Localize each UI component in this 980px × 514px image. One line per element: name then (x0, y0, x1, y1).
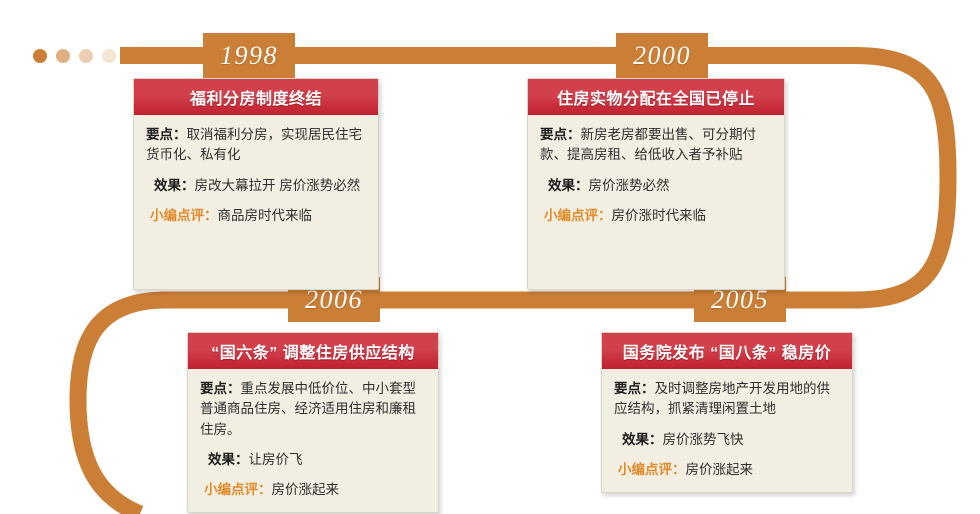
key-points-row: 要点：取消福利分房，实现居民住宅货币化、私有化 (146, 125, 366, 166)
year-tab-1998[interactable]: 1998 (203, 33, 295, 78)
comment-value: 商品房时代来临 (218, 208, 313, 223)
effect-value: 房改大幕拉开 房价涨势必然 (195, 178, 361, 193)
card-body: 要点：及时调整房地产开发用地的供应结构，抓紧清理闲置土地 效果：房价涨势飞快 小… (602, 369, 852, 492)
comment-value: 房价涨时代来临 (612, 208, 707, 223)
key-points-label: 要点： (200, 381, 241, 396)
effect-value: 让房价飞 (249, 452, 303, 467)
effect-value: 房价涨势必然 (589, 178, 670, 193)
event-card-2006[interactable]: “国六条” 调整住房供应结构 要点：重点发展中低价位、中小套型普通商品住房、经济… (187, 332, 439, 513)
key-points-label: 要点： (614, 381, 655, 396)
comment-row: 小编点评：商品房时代来临 (146, 206, 366, 226)
timeline-segment-right-curve (855, 56, 948, 301)
effect-label: 效果： (208, 452, 249, 467)
comment-label: 小编点评： (544, 208, 612, 223)
comment-row: 小编点评：房价涨起来 (200, 480, 426, 500)
effect-row: 效果：房价涨势必然 (540, 176, 772, 196)
timeline-dot-2 (56, 49, 70, 63)
effect-label: 效果： (548, 178, 589, 193)
card-title: “国六条” 调整住房供应结构 (211, 339, 414, 363)
card-title: 福利分房制度终结 (190, 85, 322, 109)
effect-row: 效果：让房价飞 (200, 450, 426, 470)
year-label: 2000 (633, 41, 691, 71)
card-body: 要点：重点发展中低价位、中小套型普通商品住房、经济适用住房和廉租住房。 效果：让… (188, 369, 438, 512)
card-body: 要点：新房老房都要出售、可分期付款、提高房租、给低收入者予补贴 效果：房价涨势必… (528, 115, 784, 289)
year-tab-2000[interactable]: 2000 (616, 33, 708, 78)
timeline-dot-4 (102, 49, 116, 63)
comment-row: 小编点评：房价涨起来 (614, 460, 840, 480)
effect-row: 效果：房价涨势飞快 (614, 430, 840, 450)
effect-label: 效果： (622, 432, 663, 447)
key-points-row: 要点：重点发展中低价位、中小套型普通商品住房、经济适用住房和廉租住房。 (200, 379, 426, 440)
key-points-row: 要点：新房老房都要出售、可分期付款、提高房租、给低收入者予补贴 (540, 125, 772, 166)
comment-row: 小编点评：房价涨时代来临 (540, 206, 772, 226)
timeline-dot-3 (79, 49, 93, 63)
event-card-2005[interactable]: 国务院发布 “国八条” 稳房价 要点：及时调整房地产开发用地的供应结构，抓紧清理… (601, 332, 853, 493)
timeline-dot-1 (33, 49, 47, 63)
card-header: 住房实物分配在全国已停止 (528, 79, 784, 115)
event-card-1998[interactable]: 福利分房制度终结 要点：取消福利分房，实现居民住宅货币化、私有化 效果：房改大幕… (133, 78, 379, 290)
key-points-label: 要点： (146, 127, 187, 142)
effect-label: 效果： (154, 178, 195, 193)
key-points-row: 要点：及时调整房地产开发用地的供应结构，抓紧清理闲置土地 (614, 379, 840, 420)
effect-row: 效果：房改大幕拉开 房价涨势必然 (146, 176, 366, 196)
timeline-segment-left-curve (78, 300, 166, 514)
card-title: 住房实物分配在全国已停止 (557, 85, 755, 109)
key-points-label: 要点： (540, 127, 581, 142)
year-label: 1998 (220, 41, 278, 71)
card-header: “国六条” 调整住房供应结构 (188, 333, 438, 369)
comment-label: 小编点评： (150, 208, 218, 223)
comment-label: 小编点评： (204, 482, 272, 497)
timeline-infographic: 1998 2000 2006 2005 福利分房制度终结 要点：取消福利分房，实… (0, 0, 980, 514)
event-card-2000[interactable]: 住房实物分配在全国已停止 要点：新房老房都要出售、可分期付款、提高房租、给低收入… (527, 78, 785, 290)
card-body: 要点：取消福利分房，实现居民住宅货币化、私有化 效果：房改大幕拉开 房价涨势必然… (134, 115, 378, 289)
comment-value: 房价涨起来 (272, 482, 340, 497)
comment-value: 房价涨起来 (686, 462, 754, 477)
comment-label: 小编点评： (618, 462, 686, 477)
effect-value: 房价涨势飞快 (663, 432, 744, 447)
card-header: 国务院发布 “国八条” 稳房价 (602, 333, 852, 369)
card-header: 福利分房制度终结 (134, 79, 378, 115)
card-title: 国务院发布 “国八条” 稳房价 (623, 339, 831, 363)
